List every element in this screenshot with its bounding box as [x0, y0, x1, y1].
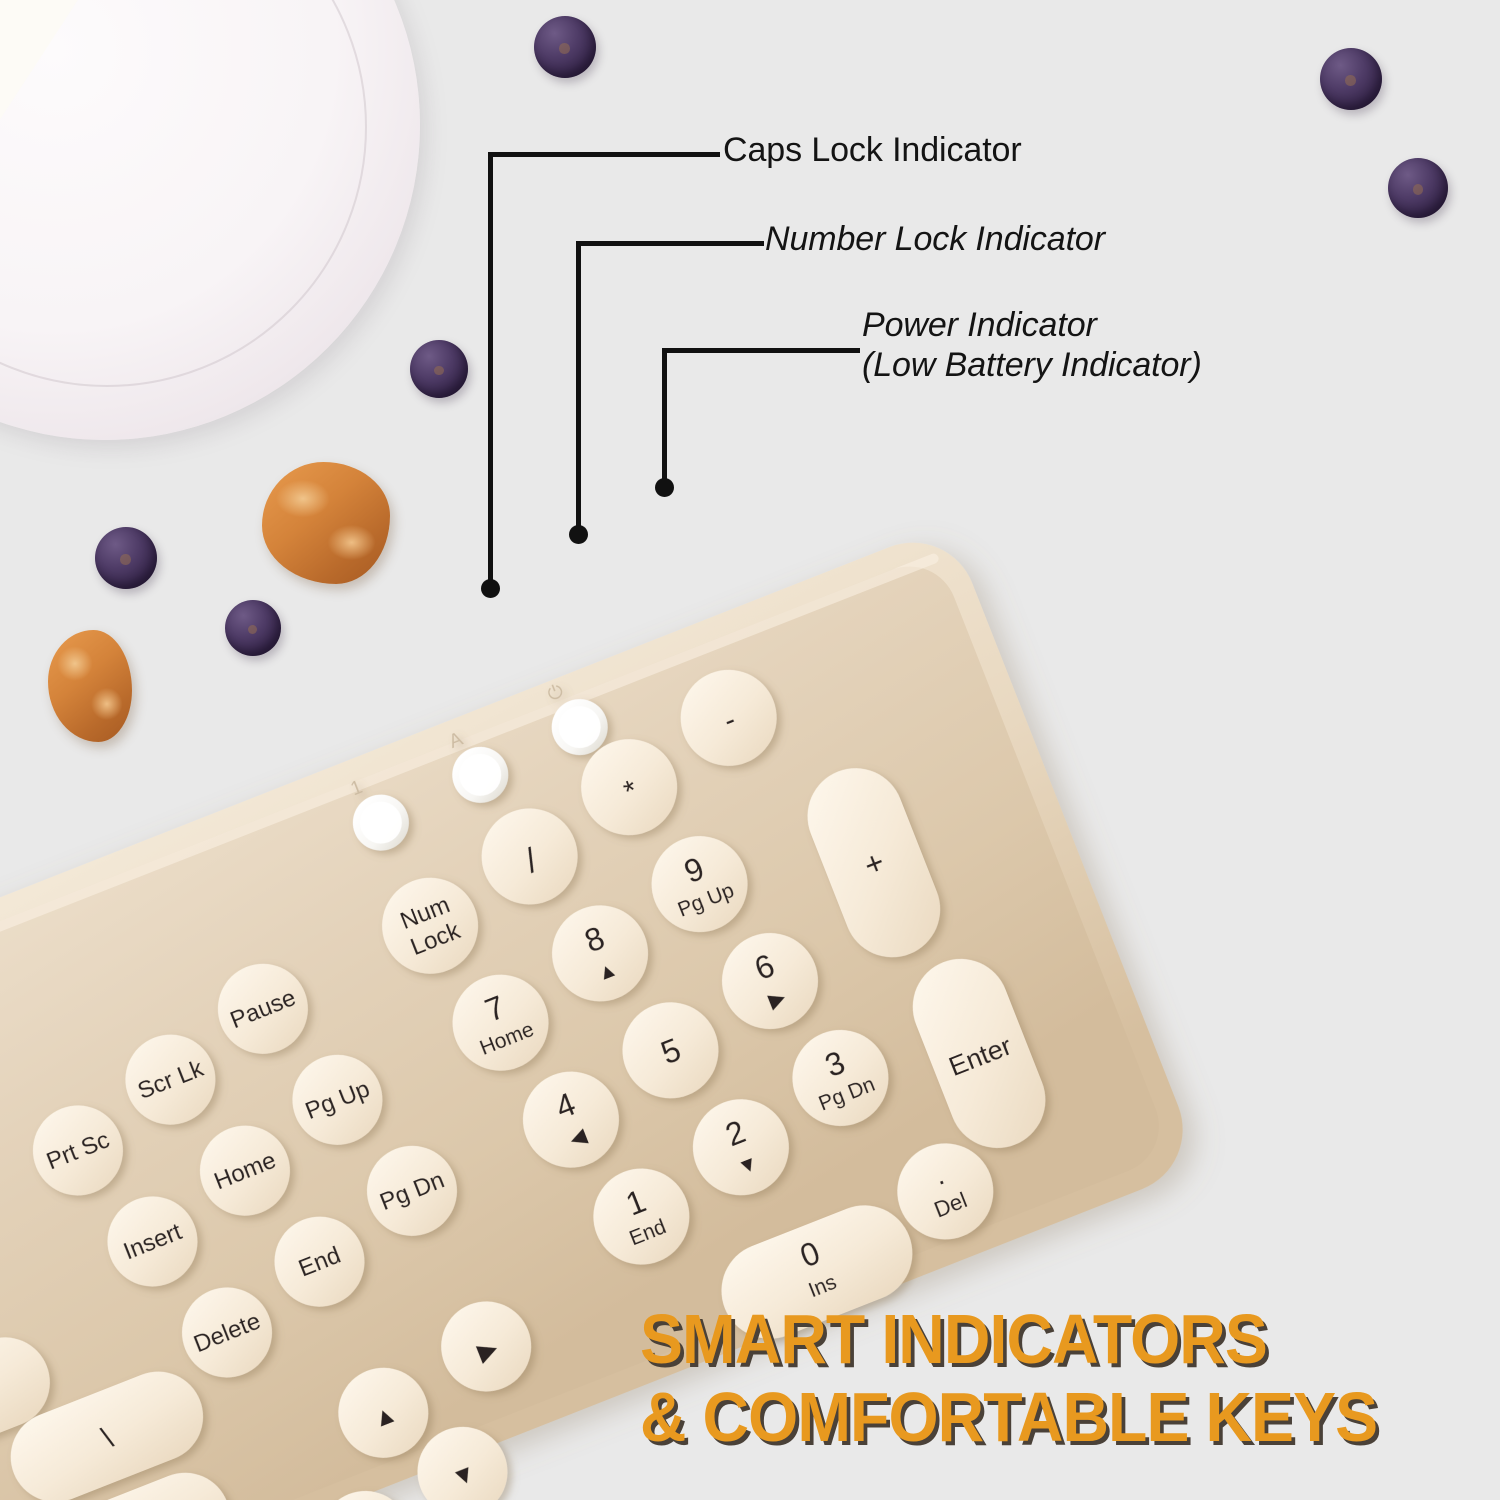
headline-line-1: SMART INDICATORS — [640, 1300, 1431, 1378]
leader-line-caps-lock-horizontal — [488, 152, 720, 157]
headline-line-2: & COMFORTABLE KEYS — [640, 1378, 1431, 1456]
callout-label-caps-lock: Caps Lock Indicator — [723, 130, 1022, 170]
leader-line-caps-lock — [488, 152, 493, 588]
leader-line-power — [662, 348, 667, 487]
callout-dot-caps-lock — [481, 579, 500, 598]
keyboard-photo: 1 A ⏻ Prt Sc Scr Lk Pause Insert Home Pg… — [0, 0, 1500, 1500]
leader-line-num-lock — [576, 241, 581, 534]
callout-dot-power — [655, 478, 674, 497]
headline: SMART INDICATORS & COMFORTABLE KEYS — [640, 1300, 1431, 1457]
callout-label-num-lock: Number Lock Indicator — [765, 219, 1105, 259]
leader-line-num-lock-horizontal — [576, 241, 764, 246]
leader-line-power-horizontal — [662, 348, 860, 353]
callout-dot-num-lock — [569, 525, 588, 544]
callout-label-power: Power Indicator (Low Battery Indicator) — [862, 305, 1202, 385]
